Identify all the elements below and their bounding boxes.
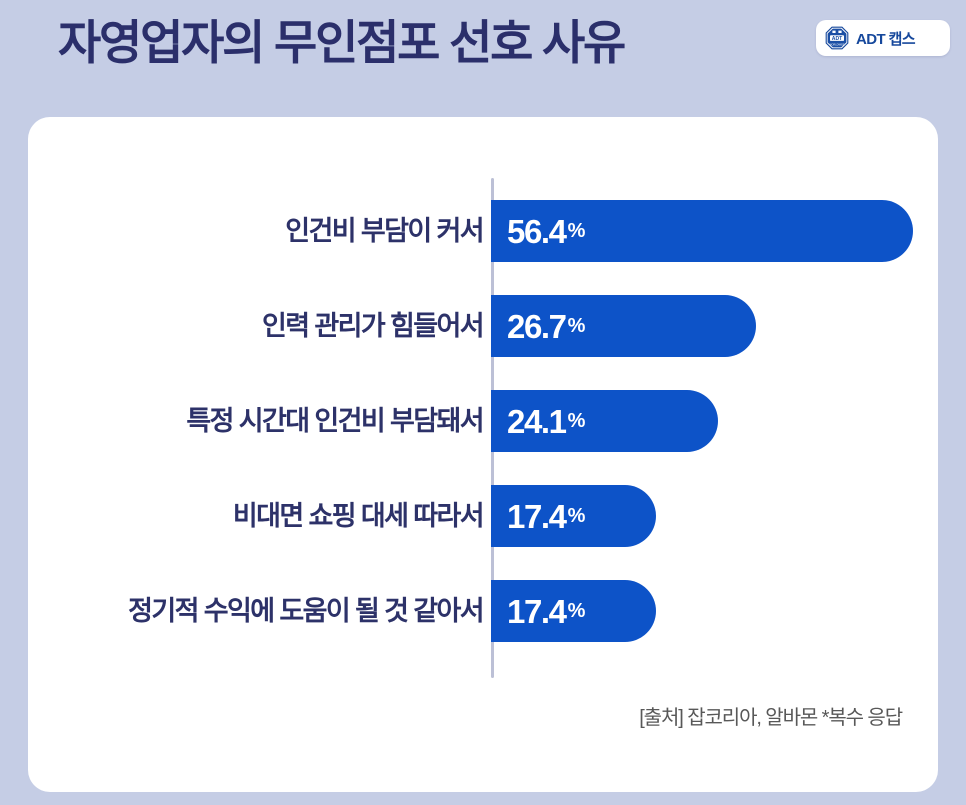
chart-row: 정기적 수익에 도움이 될 것 같아서 17.4 %	[28, 580, 938, 642]
chart-card: 인건비 부담이 커서 56.4 % 인력 관리가 힘들어서 26.7 % 특정 …	[28, 117, 938, 792]
bar-value: 17.4	[507, 595, 566, 628]
chart-row: 인건비 부담이 커서 56.4 %	[28, 200, 938, 262]
chart-row: 특정 시간대 인건비 부담돼서 24.1 %	[28, 390, 938, 452]
horizontal-bar-chart: 인건비 부담이 커서 56.4 % 인력 관리가 힘들어서 26.7 % 특정 …	[28, 117, 938, 792]
bar-category-label: 비대면 쇼핑 대세 따라서	[63, 503, 483, 530]
bar-value: 17.4	[507, 500, 566, 533]
bar-unit: %	[568, 316, 585, 336]
bar-category-label: 인건비 부담이 커서	[63, 218, 483, 245]
adt-octagon-badge-icon: ADT WORLDWIDE	[825, 26, 849, 50]
bar-unit: %	[568, 221, 585, 241]
bar-unit: %	[568, 506, 585, 526]
bar-item: 26.7 %	[491, 295, 756, 357]
brand-logo: ADT WORLDWIDE ADT 캡스	[816, 20, 950, 56]
bar-item: 56.4 %	[491, 200, 913, 262]
bar-unit: %	[568, 411, 585, 431]
bar-item: 17.4 %	[491, 580, 656, 642]
bar-value: 26.7	[507, 310, 566, 343]
brand-name: ADT 캡스	[856, 28, 915, 49]
bar-category-label: 정기적 수익에 도움이 될 것 같아서	[63, 598, 483, 625]
source-note: [출처] 잡코리아, 알바몬 *복수 응답	[639, 701, 902, 730]
bar-value: 24.1	[507, 405, 566, 438]
svg-text:ADT: ADT	[832, 36, 843, 42]
bar-category-label: 특정 시간대 인건비 부담돼서	[63, 408, 483, 435]
chart-row: 인력 관리가 힘들어서 26.7 %	[28, 295, 938, 357]
bar-item: 24.1 %	[491, 390, 718, 452]
bar-unit: %	[568, 601, 585, 621]
chart-row: 비대면 쇼핑 대세 따라서 17.4 %	[28, 485, 938, 547]
bar-item: 17.4 %	[491, 485, 656, 547]
bar-value: 56.4	[507, 215, 566, 248]
infographic-header: 자영업자의 무인점포 선호 사유 ADT WORLDWIDE ADT 캡스	[0, 0, 966, 117]
bar-category-label: 인력 관리가 힘들어서	[63, 313, 483, 340]
chart-rows: 인건비 부담이 커서 56.4 % 인력 관리가 힘들어서 26.7 % 특정 …	[28, 200, 938, 675]
svg-text:WORLDWIDE: WORLDWIDE	[829, 43, 845, 46]
page-title: 자영업자의 무인점포 선호 사유	[58, 14, 624, 73]
